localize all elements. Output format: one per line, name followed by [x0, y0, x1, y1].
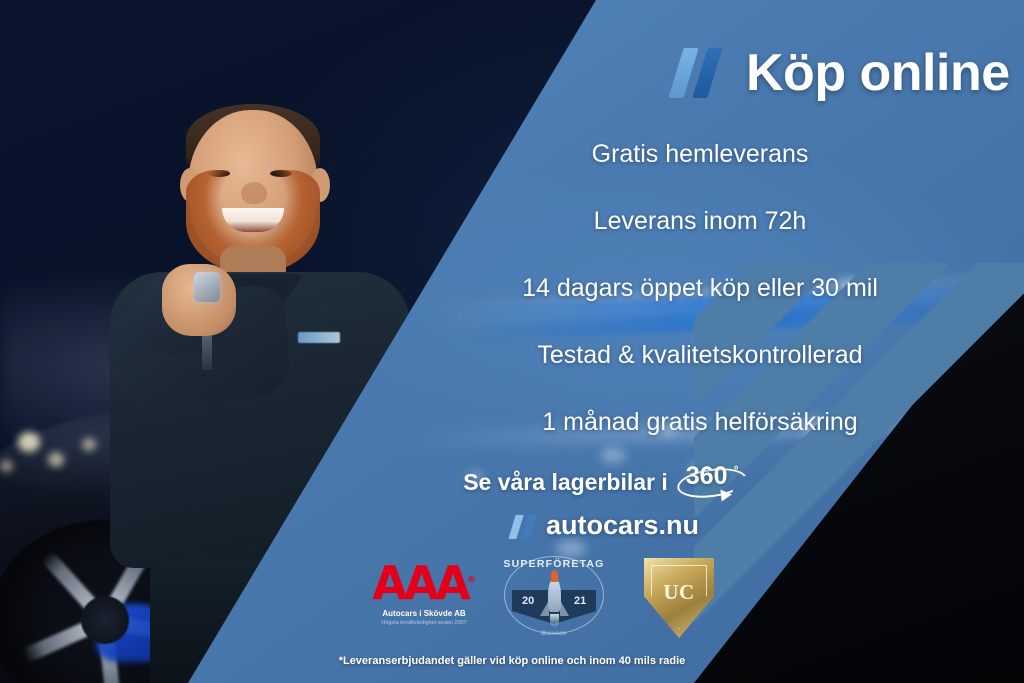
cta-text: Se våra lagerbilar i [463, 469, 668, 496]
registered-icon: ® [467, 576, 476, 586]
double-slash-icon [511, 512, 539, 540]
360-number: 360 [686, 464, 728, 489]
rocket-nose-cone [551, 570, 558, 582]
trust-logos: AAA® Autocars i Skövde AB Högsta kreditv… [350, 552, 770, 650]
page-title: Köp online [746, 47, 1010, 99]
headline-row: Köp online [672, 44, 1010, 102]
list-item: 1 månad gratis helförsäkring [440, 408, 960, 437]
uc-mark: UC [636, 580, 722, 605]
list-item: Leverans inom 72h [440, 207, 960, 236]
badge-footer: Bisnode [498, 630, 610, 637]
cta-headline: Se våra lagerbilar i 360 ° [440, 462, 770, 502]
website-link[interactable]: autocars.nu [440, 510, 770, 541]
aaa-mark: AAA® [360, 560, 488, 606]
badge-year-left: 20 [522, 595, 534, 607]
aaa-letters: AAA [372, 556, 467, 610]
uc-shield-logo: UC [636, 558, 722, 644]
list-item: 14 dagars öppet köp eller 30 mil [440, 274, 960, 303]
superforetag-badge: SUPERFÖRETAG 20 21 Bisnode [498, 554, 610, 648]
aaa-subline: Högsta kreditvärdighet sedan 2007 [360, 620, 488, 628]
ad-content: Köp online Gratis hemleverans Leverans i… [0, 0, 1024, 683]
website-url: autocars.nu [546, 510, 699, 541]
aaa-credit-logo: AAA® Autocars i Skövde AB Högsta kreditv… [360, 560, 488, 628]
badge-year-right: 21 [574, 595, 586, 607]
advertisement-canvas: Köp online Gratis hemleverans Leverans i… [0, 0, 1024, 683]
aaa-company-name: Autocars i Skövde AB [360, 609, 488, 618]
360-badge-icon: 360 ° [677, 462, 747, 502]
rocket-flame [550, 614, 559, 628]
feature-list: Gratis hemleverans Leverans inom 72h 14 … [440, 140, 960, 475]
rocket-icon [548, 578, 561, 612]
degree-symbol: ° [734, 463, 739, 477]
disclaimer-text: *Leveranserbjudandet gäller vid köp onli… [0, 655, 1024, 667]
superforetag-title: SUPERFÖRETAG [498, 558, 610, 570]
double-slash-icon [672, 44, 728, 102]
list-item: Gratis hemleverans [440, 140, 960, 169]
cta-block[interactable]: Se våra lagerbilar i 360 ° autocars.nu [440, 462, 770, 541]
list-item: Testad & kvalitetskontrollerad [440, 341, 960, 370]
